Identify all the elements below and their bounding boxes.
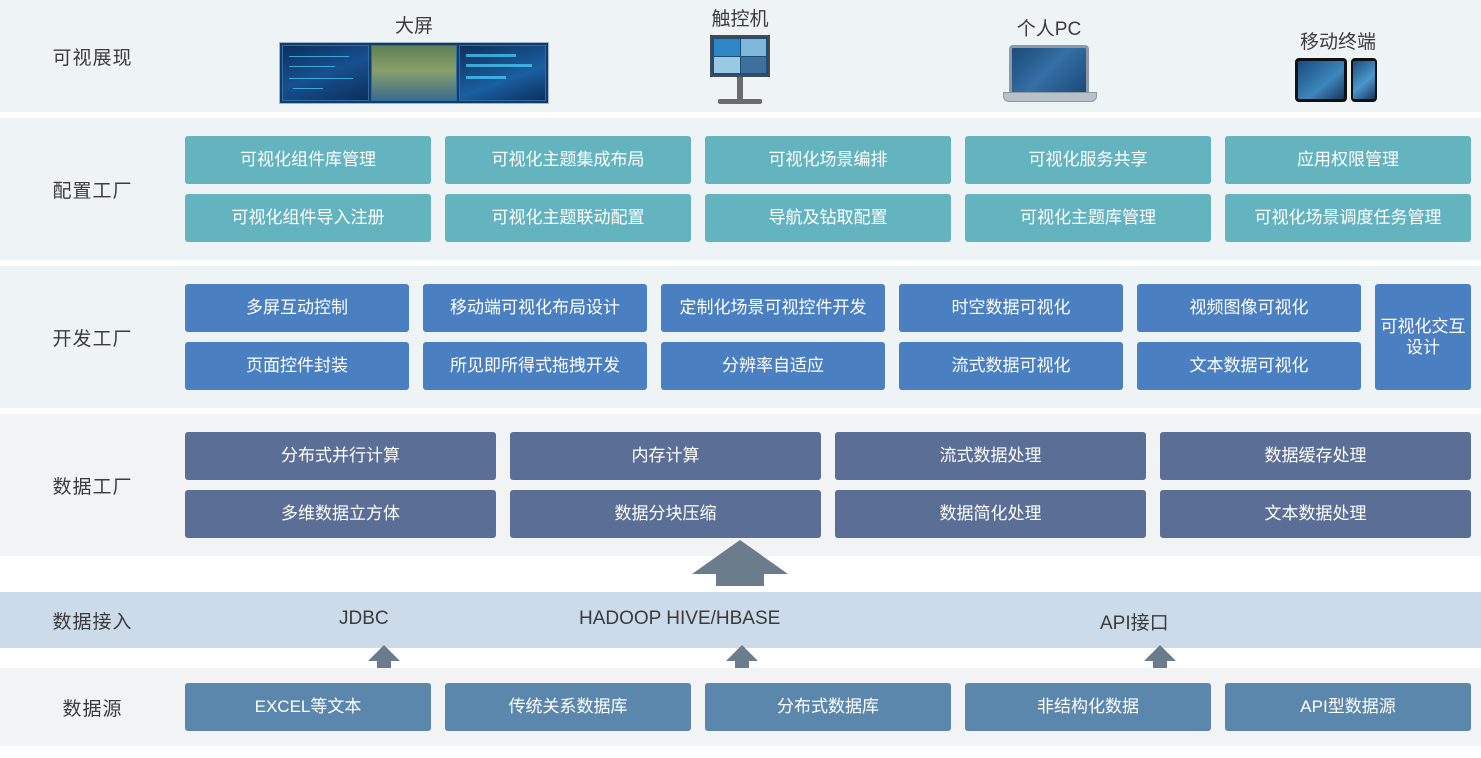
layer-label-source: 数据源 [0,694,185,721]
flow-arrow-up-large [660,540,820,586]
config-cell[interactable]: 可视化主题集成布局 [445,136,691,184]
architecture-diagram: 可视展现 大屏 [0,0,1481,758]
tablet-phone-icon [1295,58,1381,102]
data-cell[interactable]: 文本数据处理 [1160,490,1471,538]
config-cell[interactable]: 可视化主题联动配置 [445,194,691,242]
dev-cell[interactable]: 页面控件封装 [185,342,409,390]
dev-row-1: 多屏互动控制 移动端可视化布局设计 定制化场景可视控件开发 时空数据可视化 视频… [185,284,1361,332]
source-cell[interactable]: API型数据源 [1225,683,1471,731]
source-cell[interactable]: 分布式数据库 [705,683,951,731]
config-cell[interactable]: 可视化场景调度任务管理 [1225,194,1471,242]
layer-data-access: 数据接入 JDBC HADOOP HIVE/HBASE API接口 [0,592,1481,648]
layer-label-access: 数据接入 [0,607,185,634]
source-cell[interactable]: EXCEL等文本 [185,683,431,731]
dev-grid: 多屏互动控制 移动端可视化布局设计 定制化场景可视控件开发 时空数据可视化 视频… [185,284,1361,390]
access-item-api: API接口 [1100,608,1169,635]
layer-label-visual: 可视展现 [0,43,185,70]
data-cell[interactable]: 多维数据立方体 [185,490,496,538]
dev-cell[interactable]: 所见即所得式拖拽开发 [423,342,647,390]
data-cell[interactable]: 数据简化处理 [835,490,1146,538]
dev-cell[interactable]: 视频图像可视化 [1137,284,1361,332]
dev-cell[interactable]: 分辨率自适应 [661,342,885,390]
data-cell[interactable]: 数据分块压缩 [510,490,821,538]
laptop-icon [1003,45,1095,102]
dev-cell[interactable]: 移动端可视化布局设计 [423,284,647,332]
layer-config-factory: 配置工厂 可视化组件库管理 可视化主题集成布局 可视化场景编排 可视化服务共享 … [0,118,1481,260]
touch-kiosk-icon [710,35,770,104]
dev-cell[interactable]: 多屏互动控制 [185,284,409,332]
layer-data-source: 数据源 EXCEL等文本 传统关系数据库 分布式数据库 非结构化数据 API型数… [0,668,1481,746]
dev-cell[interactable]: 时空数据可视化 [899,284,1123,332]
data-cell[interactable]: 流式数据处理 [835,432,1146,480]
layer-label-config: 配置工厂 [0,176,185,203]
dev-cell[interactable]: 流式数据可视化 [899,342,1123,390]
device-label-big-screen: 大屏 [279,11,549,38]
dev-cell[interactable]: 定制化场景可视控件开发 [661,284,885,332]
layer-data-factory: 数据工厂 分布式并行计算 内存计算 流式数据处理 数据缓存处理 多维数据立方体 … [0,414,1481,556]
layer-label-dev: 开发工厂 [0,324,185,351]
device-personal-pc: 个人PC [1003,14,1095,102]
dev-grid-wrap: 多屏互动控制 移动端可视化布局设计 定制化场景可视控件开发 时空数据可视化 视频… [185,284,1481,390]
source-row: EXCEL等文本 传统关系数据库 分布式数据库 非结构化数据 API型数据源 [185,683,1471,731]
device-label-personal-pc: 个人PC [1003,14,1095,41]
data-grid: 分布式并行计算 内存计算 流式数据处理 数据缓存处理 多维数据立方体 数据分块压… [185,432,1481,538]
source-cell[interactable]: 非结构化数据 [965,683,1211,731]
config-cell[interactable]: 可视化场景编排 [705,136,951,184]
config-row-2: 可视化组件导入注册 可视化主题联动配置 导航及钻取配置 可视化主题库管理 可视化… [185,194,1471,242]
access-item-jdbc: JDBC [339,608,389,630]
layer-dev-factory: 开发工厂 多屏互动控制 移动端可视化布局设计 定制化场景可视控件开发 时空数据可… [0,266,1481,408]
data-row-2: 多维数据立方体 数据分块压缩 数据简化处理 文本数据处理 [185,490,1471,538]
layer-visual-presentation: 可视展现 大屏 [0,0,1481,112]
layer-label-data: 数据工厂 [0,472,185,499]
dev-row-2: 页面控件封装 所见即所得式拖拽开发 分辨率自适应 流式数据可视化 文本数据可视化 [185,342,1361,390]
config-cell[interactable]: 可视化主题库管理 [965,194,1211,242]
device-label-mobile-terminal: 移动终端 [1295,27,1381,54]
dev-cell[interactable]: 文本数据可视化 [1137,342,1361,390]
device-label-touch-kiosk: 触控机 [710,4,770,31]
data-row-1: 分布式并行计算 内存计算 流式数据处理 数据缓存处理 [185,432,1471,480]
config-cell[interactable]: 可视化组件导入注册 [185,194,431,242]
access-items: JDBC HADOOP HIVE/HBASE API接口 [185,592,1481,648]
device-mobile-terminal: 移动终端 [1295,27,1381,102]
config-grid: 可视化组件库管理 可视化主题集成布局 可视化场景编排 可视化服务共享 应用权限管… [185,136,1481,242]
device-row: 大屏 触控机 [185,0,1481,112]
source-cell[interactable]: 传统关系数据库 [445,683,691,731]
config-cell[interactable]: 可视化服务共享 [965,136,1211,184]
access-item-hadoop: HADOOP HIVE/HBASE [579,608,780,630]
data-cell[interactable]: 数据缓存处理 [1160,432,1471,480]
config-row-1: 可视化组件库管理 可视化主题集成布局 可视化场景编排 可视化服务共享 应用权限管… [185,136,1471,184]
data-cell[interactable]: 分布式并行计算 [185,432,496,480]
config-cell[interactable]: 可视化组件库管理 [185,136,431,184]
config-cell[interactable]: 应用权限管理 [1225,136,1471,184]
device-big-screen: 大屏 [279,11,549,104]
config-cell[interactable]: 导航及钻取配置 [705,194,951,242]
data-cell[interactable]: 内存计算 [510,432,821,480]
dev-cell-interaction-design[interactable]: 可视化交互设计 [1375,284,1471,390]
big-screen-wall-icon [279,42,549,104]
source-grid: EXCEL等文本 传统关系数据库 分布式数据库 非结构化数据 API型数据源 [185,683,1481,731]
device-touch-kiosk: 触控机 [710,4,770,104]
